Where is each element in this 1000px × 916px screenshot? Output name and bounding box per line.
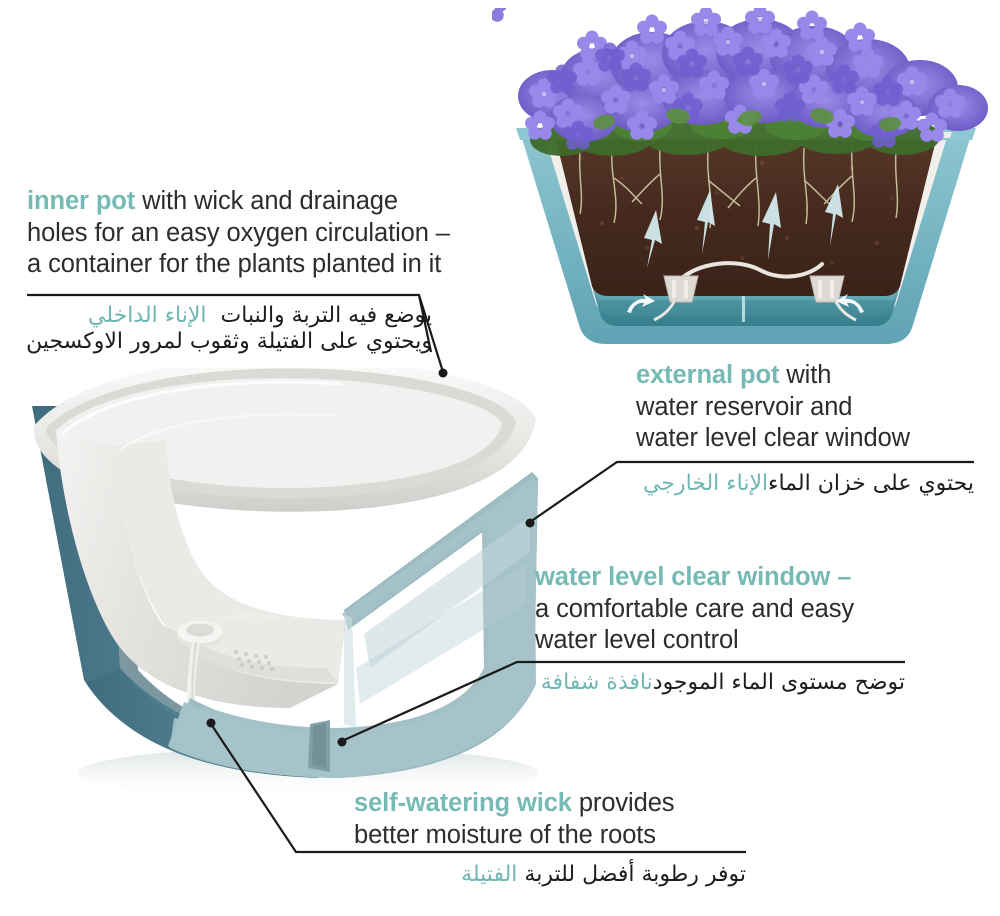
external-pot-en-line3: water level clear window bbox=[636, 423, 910, 455]
inner-pot-keyword-ar: الإناء الداخلي bbox=[88, 303, 207, 328]
external-pot-keyword-en: external pot bbox=[636, 361, 779, 389]
callout-external-pot-arabic: يحتوي على خزان الماءالإناء الخارجي bbox=[574, 470, 974, 498]
callout-water-level-window: water level clear window – a comfortable… bbox=[535, 562, 854, 657]
inner-pot-ar-line2: ويحتوي على الفتيلة وثقوب لمرور الاوكسجين bbox=[12, 329, 432, 355]
water-window-en-line1: water level clear window – bbox=[535, 562, 854, 594]
flower-canopy bbox=[492, 8, 988, 156]
callout-water-level-window-arabic: توضح مستوى الماء الموجودنافذة شفافة bbox=[505, 669, 905, 697]
top-planter-svg bbox=[492, 8, 1000, 360]
external-pot-en-line2: water reservoir and bbox=[636, 392, 910, 424]
callout-self-watering-wick: self-watering wick provides better moist… bbox=[354, 788, 674, 851]
water-window-ar-line1: توضح مستوى الماء الموجودنافذة شفافة bbox=[505, 669, 905, 697]
callout-external-pot: external pot with water reservoir and wa… bbox=[636, 360, 910, 455]
water-window-body-ar-1: توضح مستوى الماء الموجود bbox=[653, 670, 905, 695]
infographic-stage: inner pot with wick and drainage holes f… bbox=[0, 0, 1000, 916]
wick-body-ar-1: توفر رطوبة أفضل للتربة bbox=[524, 862, 746, 887]
exploded-planter-svg bbox=[8, 368, 574, 812]
water-window-keyword-ar: نافذة شفافة bbox=[541, 670, 653, 695]
wick-ar-line1: توفر رطوبة أفضل للتربة الفتيلة bbox=[346, 861, 746, 889]
inner-pot-body-en-1: with wick and drainage bbox=[135, 187, 398, 215]
inner-pot-keyword-en: inner pot bbox=[27, 187, 135, 215]
external-pot-body-ar-1: يحتوي على خزان الماء bbox=[768, 471, 974, 496]
callout-inner-pot: inner pot with wick and drainage holes f… bbox=[27, 186, 450, 281]
water-window-keyword-en: water level clear window – bbox=[535, 563, 851, 591]
wick-en-line1: self-watering wick provides bbox=[354, 788, 674, 820]
inner-pot-en-line2: holes for an easy oxygen circulation – bbox=[27, 218, 450, 250]
external-pot-body-en-1: with bbox=[779, 361, 831, 389]
inner-pot-en-line3: a container for the plants planted in it bbox=[27, 249, 450, 281]
water-window-en-line3: water level control bbox=[535, 625, 854, 657]
wick-keyword-en: self-watering wick bbox=[354, 789, 572, 817]
callout-self-watering-wick-arabic: توفر رطوبة أفضل للتربة الفتيلة bbox=[346, 861, 746, 889]
inner-pot-en-line1: inner pot with wick and drainage bbox=[27, 186, 450, 218]
callout-inner-pot-arabic: يوضع فيه التربة والنبات الإناء الداخلي و… bbox=[12, 303, 432, 355]
external-pot-keyword-ar: الإناء الخارجي bbox=[643, 471, 768, 496]
wick-keyword-ar: الفتيلة bbox=[461, 862, 517, 887]
exploded-planter-illustration bbox=[8, 368, 574, 812]
inner-pot-ar-line1: يوضع فيه التربة والنبات الإناء الداخلي bbox=[12, 303, 432, 329]
wick-en-line2: better moisture of the roots bbox=[354, 820, 674, 852]
water-level-clear-window bbox=[308, 720, 330, 772]
top-planter-illustration bbox=[492, 8, 1000, 360]
external-pot-ar-line1: يحتوي على خزان الماءالإناء الخارجي bbox=[574, 470, 974, 498]
wick-body-en-1: provides bbox=[572, 789, 675, 817]
external-pot-en-line1: external pot with bbox=[636, 360, 910, 392]
water-window-en-line2: a comfortable care and easy bbox=[535, 594, 854, 626]
inner-pot-body-ar-1: يوضع فيه التربة والنبات bbox=[221, 303, 432, 328]
